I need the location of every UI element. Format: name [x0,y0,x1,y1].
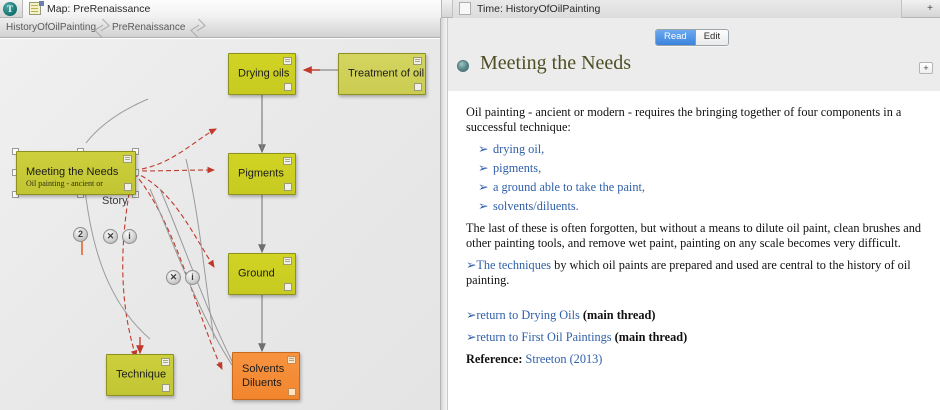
paragraph-techniques: ➢The techniques by which oil paints are … [466,258,922,288]
tab-map-prerenaissance[interactable]: Map: PreRenaissance [22,0,442,18]
panel-splitter[interactable] [440,18,448,410]
resize-handle-icon[interactable] [414,83,422,91]
breadcrumb-item-prerenaissance[interactable]: PreRenaissance [112,18,185,37]
return-link-row: ➢return to Drying Oils (main thread) [466,308,922,323]
application-window: T Map: PreRenaissance Time: HistoryOfOil… [0,0,940,410]
map-badge-close-2[interactable]: ✕ [166,270,181,285]
list-item[interactable]: ➢ solvents/diluents. [466,199,922,214]
mode-toggle[interactable]: Read Edit [655,29,729,46]
list-item[interactable]: ➢ a ground able to take the paint, [466,180,922,195]
map-badge-count[interactable]: 2 [73,227,88,242]
list-item[interactable]: ➢ drying oil, [466,142,922,157]
arrow-icon: ➢ [478,161,488,176]
resize-handle-icon[interactable] [284,183,292,191]
resize-handle-icon[interactable] [162,384,170,392]
arrow-icon: ➢ [466,258,476,272]
page-title: Meeting the Needs [480,52,631,75]
map-node-subtitle: Oil painting - ancient or [26,179,103,188]
map-node-story-label: Story [102,195,128,207]
spacer [466,295,922,308]
resize-handle-icon[interactable] [284,283,292,291]
edit-mode-button[interactable]: Edit [696,30,728,45]
resize-handle-icon[interactable] [288,388,296,396]
reader-toolbar: Read Edit [448,18,940,46]
link-the-techniques[interactable]: The techniques [476,258,551,272]
intro-paragraph: Oil painting - ancient or modern - requi… [466,105,922,135]
note-icon [413,57,422,65]
document-icon [29,2,43,16]
resize-handle-icon[interactable] [124,183,132,191]
note-icon [123,155,132,163]
map-node-meeting-the-needs[interactable]: Meeting the Needs Oil painting - ancient… [16,151,136,195]
breadcrumb: HistoryOfOilPainting PreRenaissance [0,18,440,38]
read-mode-button[interactable]: Read [656,30,696,45]
map-node-title: Treatment of oil [348,68,424,81]
reader-panel: Read Edit Meeting the Needs + Oil painti… [448,18,940,410]
map-badge-close-1[interactable]: ✕ [103,229,118,244]
map-node-treatment-of-oil[interactable]: Treatment of oil [338,53,426,95]
map-node-title: Pigments [238,168,284,181]
new-tab-button[interactable]: + [924,3,936,15]
map-node-title: Meeting the Needs [26,166,118,179]
link-drying-oil[interactable]: drying oil, [493,142,544,156]
arrow-icon: ➢ [466,308,476,322]
tab-bar: T Map: PreRenaissance Time: HistoryOfOil… [0,0,940,18]
node-bullet-icon [457,60,469,72]
chevron-right-icon [192,18,206,37]
note-icon [161,358,170,366]
map-node-title: Drying oils [238,68,289,81]
note-icon [283,257,292,265]
map-canvas[interactable]: Drying oils Treatment of oil Meeting the… [0,39,440,410]
tab-map-label: Map: PreRenaissance [47,0,150,18]
link-ground[interactable]: a ground able to take the paint, [493,180,645,194]
arrow-icon: ➢ [478,180,488,195]
map-node-drying-oils[interactable]: Drying oils [228,53,296,95]
document-icon [459,2,473,16]
tab-time-historyofoilpainting[interactable]: Time: HistoryOfOilPainting [452,0,902,18]
arrow-icon: ➢ [478,142,488,157]
note-icon [287,356,296,364]
paragraph-last-of-these: The last of these is often forgotten, bu… [466,221,922,251]
link-return-first-oil-paintings[interactable]: return to First Oil Paintings [476,330,611,344]
reader-header: Meeting the Needs + [448,46,940,91]
map-badge-info-2[interactable]: i [185,270,200,285]
reference-row: Reference: Streeton (2013) [466,352,922,367]
map-node-ground[interactable]: Ground [228,253,296,295]
map-node-solvents-diluents[interactable]: Solvents Diluents [232,352,300,400]
map-node-technique[interactable]: Technique [106,354,174,396]
document-body: Oil painting - ancient or modern - requi… [448,91,940,410]
link-solvents[interactable]: solvents/diluents. [493,199,579,213]
list-item[interactable]: ➢ pigments, [466,161,922,176]
note-icon [283,57,292,65]
chevron-right-icon [96,18,110,37]
link-return-drying-oils[interactable]: return to Drying Oils [476,308,580,322]
map-node-pigments[interactable]: Pigments [228,153,296,195]
component-list: ➢ drying oil, ➢ pigments, ➢ a ground abl… [466,142,922,214]
arrow-icon: ➢ [478,199,488,214]
return-suffix: (main thread) [612,330,688,344]
breadcrumb-item-historyofoilpainting[interactable]: HistoryOfOilPainting [6,18,96,37]
reference-label: Reference: [466,352,526,366]
tab-time-label: Time: HistoryOfOilPainting [477,0,600,18]
map-badge-info-1[interactable]: i [122,229,137,244]
map-node-title: Technique [116,369,166,382]
arrow-icon: ➢ [466,330,476,344]
return-suffix: (main thread) [580,308,656,322]
link-reference-streeton[interactable]: Streeton (2013) [526,352,603,366]
expand-button[interactable]: + [919,62,933,74]
map-node-title: Solvents Diluents [242,362,284,390]
app-logo-icon: T [3,2,17,16]
map-node-title: Ground [238,268,275,281]
note-icon [283,157,292,165]
return-link-row: ➢return to First Oil Paintings (main thr… [466,330,922,345]
link-pigments[interactable]: pigments, [493,161,541,175]
resize-handle-icon[interactable] [284,83,292,91]
